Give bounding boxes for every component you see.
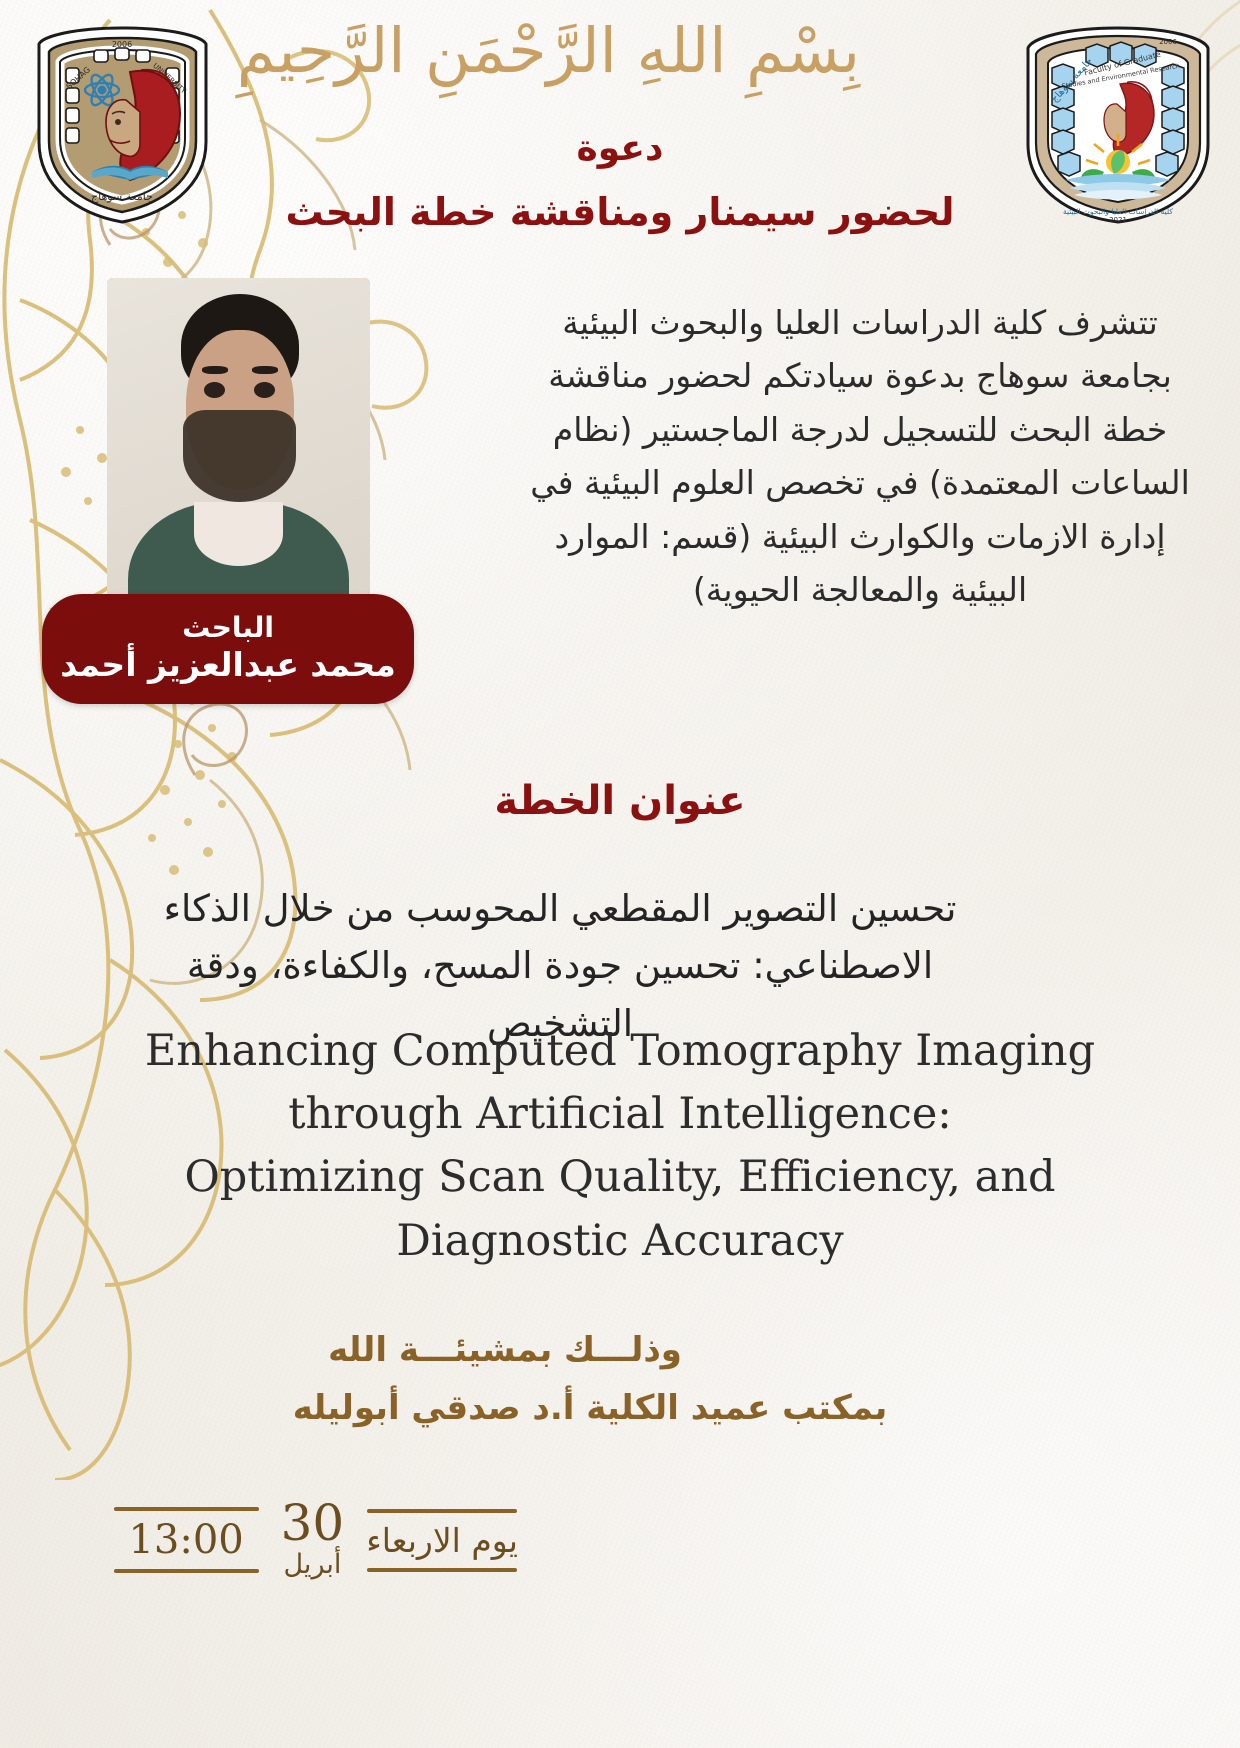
- researcher-name: محمد عبدالعزيز أحمد: [60, 644, 396, 685]
- closing-line-blessing: وذلـــك بمشيئـــة الله: [0, 1330, 1010, 1370]
- portrait-brow-left: [202, 366, 228, 374]
- event-month: أبريل: [283, 1549, 341, 1580]
- researcher-role-label: الباحث: [182, 613, 274, 642]
- portrait-collar: [194, 502, 283, 566]
- event-day-name: يوم الاربعاء: [366, 1513, 518, 1568]
- time-rule-bottom: [114, 1569, 259, 1573]
- invitation-heading-line: لحضور سيمنار ومناقشة خطة البحث: [0, 190, 1240, 234]
- invitation-heading-word: دعوة: [0, 128, 1240, 169]
- event-day-number: 30: [281, 1500, 345, 1548]
- event-day-block: يوم الاربعاء: [366, 1509, 518, 1572]
- research-title-english-line-2: through Artificial Intelligence:: [60, 1083, 1180, 1146]
- research-title-english: Enhancing Computed Tomography Imaging th…: [60, 1020, 1180, 1273]
- basmala-calligraphy: بِسْمِ اللهِ الرَّحْمَنِ الرَّحِيمِ: [400, 12, 860, 127]
- closing-line-venue: بمكتب عميد الكلية أ.د صدقي أبوليله: [0, 1388, 1180, 1428]
- research-title-english-line-1: Enhancing Computed Tomography Imaging: [60, 1020, 1180, 1083]
- portrait-beard: [183, 410, 296, 502]
- logo-right-year-top: 2006: [1159, 38, 1177, 46]
- event-time: 13:00: [128, 1511, 243, 1569]
- event-date-block: 30 أبريل: [277, 1500, 349, 1581]
- event-date-strip: يوم الاربعاء 30 أبريل 13:00: [18, 1480, 518, 1600]
- basmala-text: بِسْمِ اللهِ الرَّحْمَنِ الرَّحِيمِ: [400, 12, 860, 90]
- day-rule-bottom: [367, 1568, 517, 1572]
- logo-left-year: 2006: [112, 40, 132, 49]
- researcher-badge: الباحث محمد عبدالعزيز أحمد: [42, 594, 414, 704]
- research-title-english-line-4: Diagnostic Accuracy: [60, 1210, 1180, 1273]
- invitation-body-paragraph: تتشرف كلية الدراسات العليا والبحوث البيئ…: [530, 296, 1190, 617]
- invitation-poster: 2006 SOHAG UNIVERSITY جامعة سوهاج: [0, 0, 1240, 1748]
- research-title-english-line-3: Optimizing Scan Quality, Efficiency, and: [60, 1146, 1180, 1209]
- portrait-brow-right: [252, 366, 278, 374]
- event-time-block: 13:00: [114, 1507, 259, 1573]
- plan-title-label: عنوان الخطة: [0, 778, 1240, 824]
